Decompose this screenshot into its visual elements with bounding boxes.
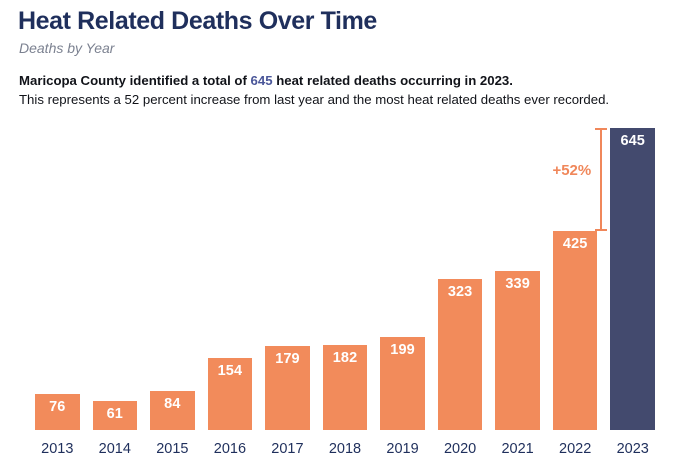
bar-value-label-2014: 61 [93, 406, 138, 422]
bar-2019[interactable]: 199 [380, 337, 425, 430]
bar-2021[interactable]: 339 [495, 271, 540, 430]
bar-value-label-2022: 425 [553, 236, 598, 252]
bar-value-label-2019: 199 [380, 342, 425, 358]
bar-2017[interactable]: 179 [265, 346, 310, 430]
annotation-percent-label: +52% [552, 162, 591, 179]
annotation-bracket-top-cap [595, 128, 607, 130]
page-title: Heat Related Deaths Over Time [18, 8, 669, 36]
bar-2014[interactable]: 61 [93, 401, 138, 430]
bar-2020[interactable]: 323 [438, 279, 483, 430]
bar-value-label-2018: 182 [323, 350, 368, 366]
bar-value-label-2023: 645 [610, 133, 655, 149]
description-bold-post: heat related deaths occurring in 2023. [273, 73, 513, 88]
x-axis-label-2021: 2021 [495, 441, 540, 457]
annotation-bracket-line [600, 128, 602, 231]
bar-2022[interactable]: 425 [553, 231, 598, 430]
x-axis-label-2013: 2013 [35, 441, 80, 457]
x-axis-label-2018: 2018 [323, 441, 368, 457]
description-highlight-value: 645 [251, 73, 273, 88]
x-axis-label-2016: 2016 [208, 441, 253, 457]
bar-2016[interactable]: 154 [208, 358, 253, 430]
bar-value-label-2016: 154 [208, 363, 253, 379]
x-axis-label-2023: 2023 [610, 441, 655, 457]
bar-value-label-2020: 323 [438, 284, 483, 300]
x-axis-label-2014: 2014 [93, 441, 138, 457]
x-axis-label-2019: 2019 [380, 441, 425, 457]
x-axis-label-2017: 2017 [265, 441, 310, 457]
chart-page: Heat Related Deaths Over Time Deaths by … [0, 0, 685, 475]
x-axis-label-2022: 2022 [553, 441, 598, 457]
description-bold-pre: Maricopa County identified a total of [19, 73, 251, 88]
bar-2015[interactable]: 84 [150, 391, 195, 430]
description-rest: This represents a 52 percent increase fr… [19, 92, 609, 107]
chart-header: Heat Related Deaths Over Time Deaths by … [0, 0, 685, 110]
x-axis-label-2015: 2015 [150, 441, 195, 457]
x-axis-label-2020: 2020 [438, 441, 483, 457]
bar-value-label-2015: 84 [150, 396, 195, 412]
bar-2018[interactable]: 182 [323, 345, 368, 430]
bar-value-label-2013: 76 [35, 399, 80, 415]
bar-value-label-2017: 179 [265, 351, 310, 367]
chart-subtitle: Deaths by Year [19, 40, 669, 57]
bar-2013[interactable]: 76 [35, 394, 80, 430]
bar-2023[interactable]: 645 [610, 128, 655, 430]
bar-value-label-2021: 339 [495, 276, 540, 292]
chart-description: Maricopa County identified a total of 64… [19, 72, 669, 109]
